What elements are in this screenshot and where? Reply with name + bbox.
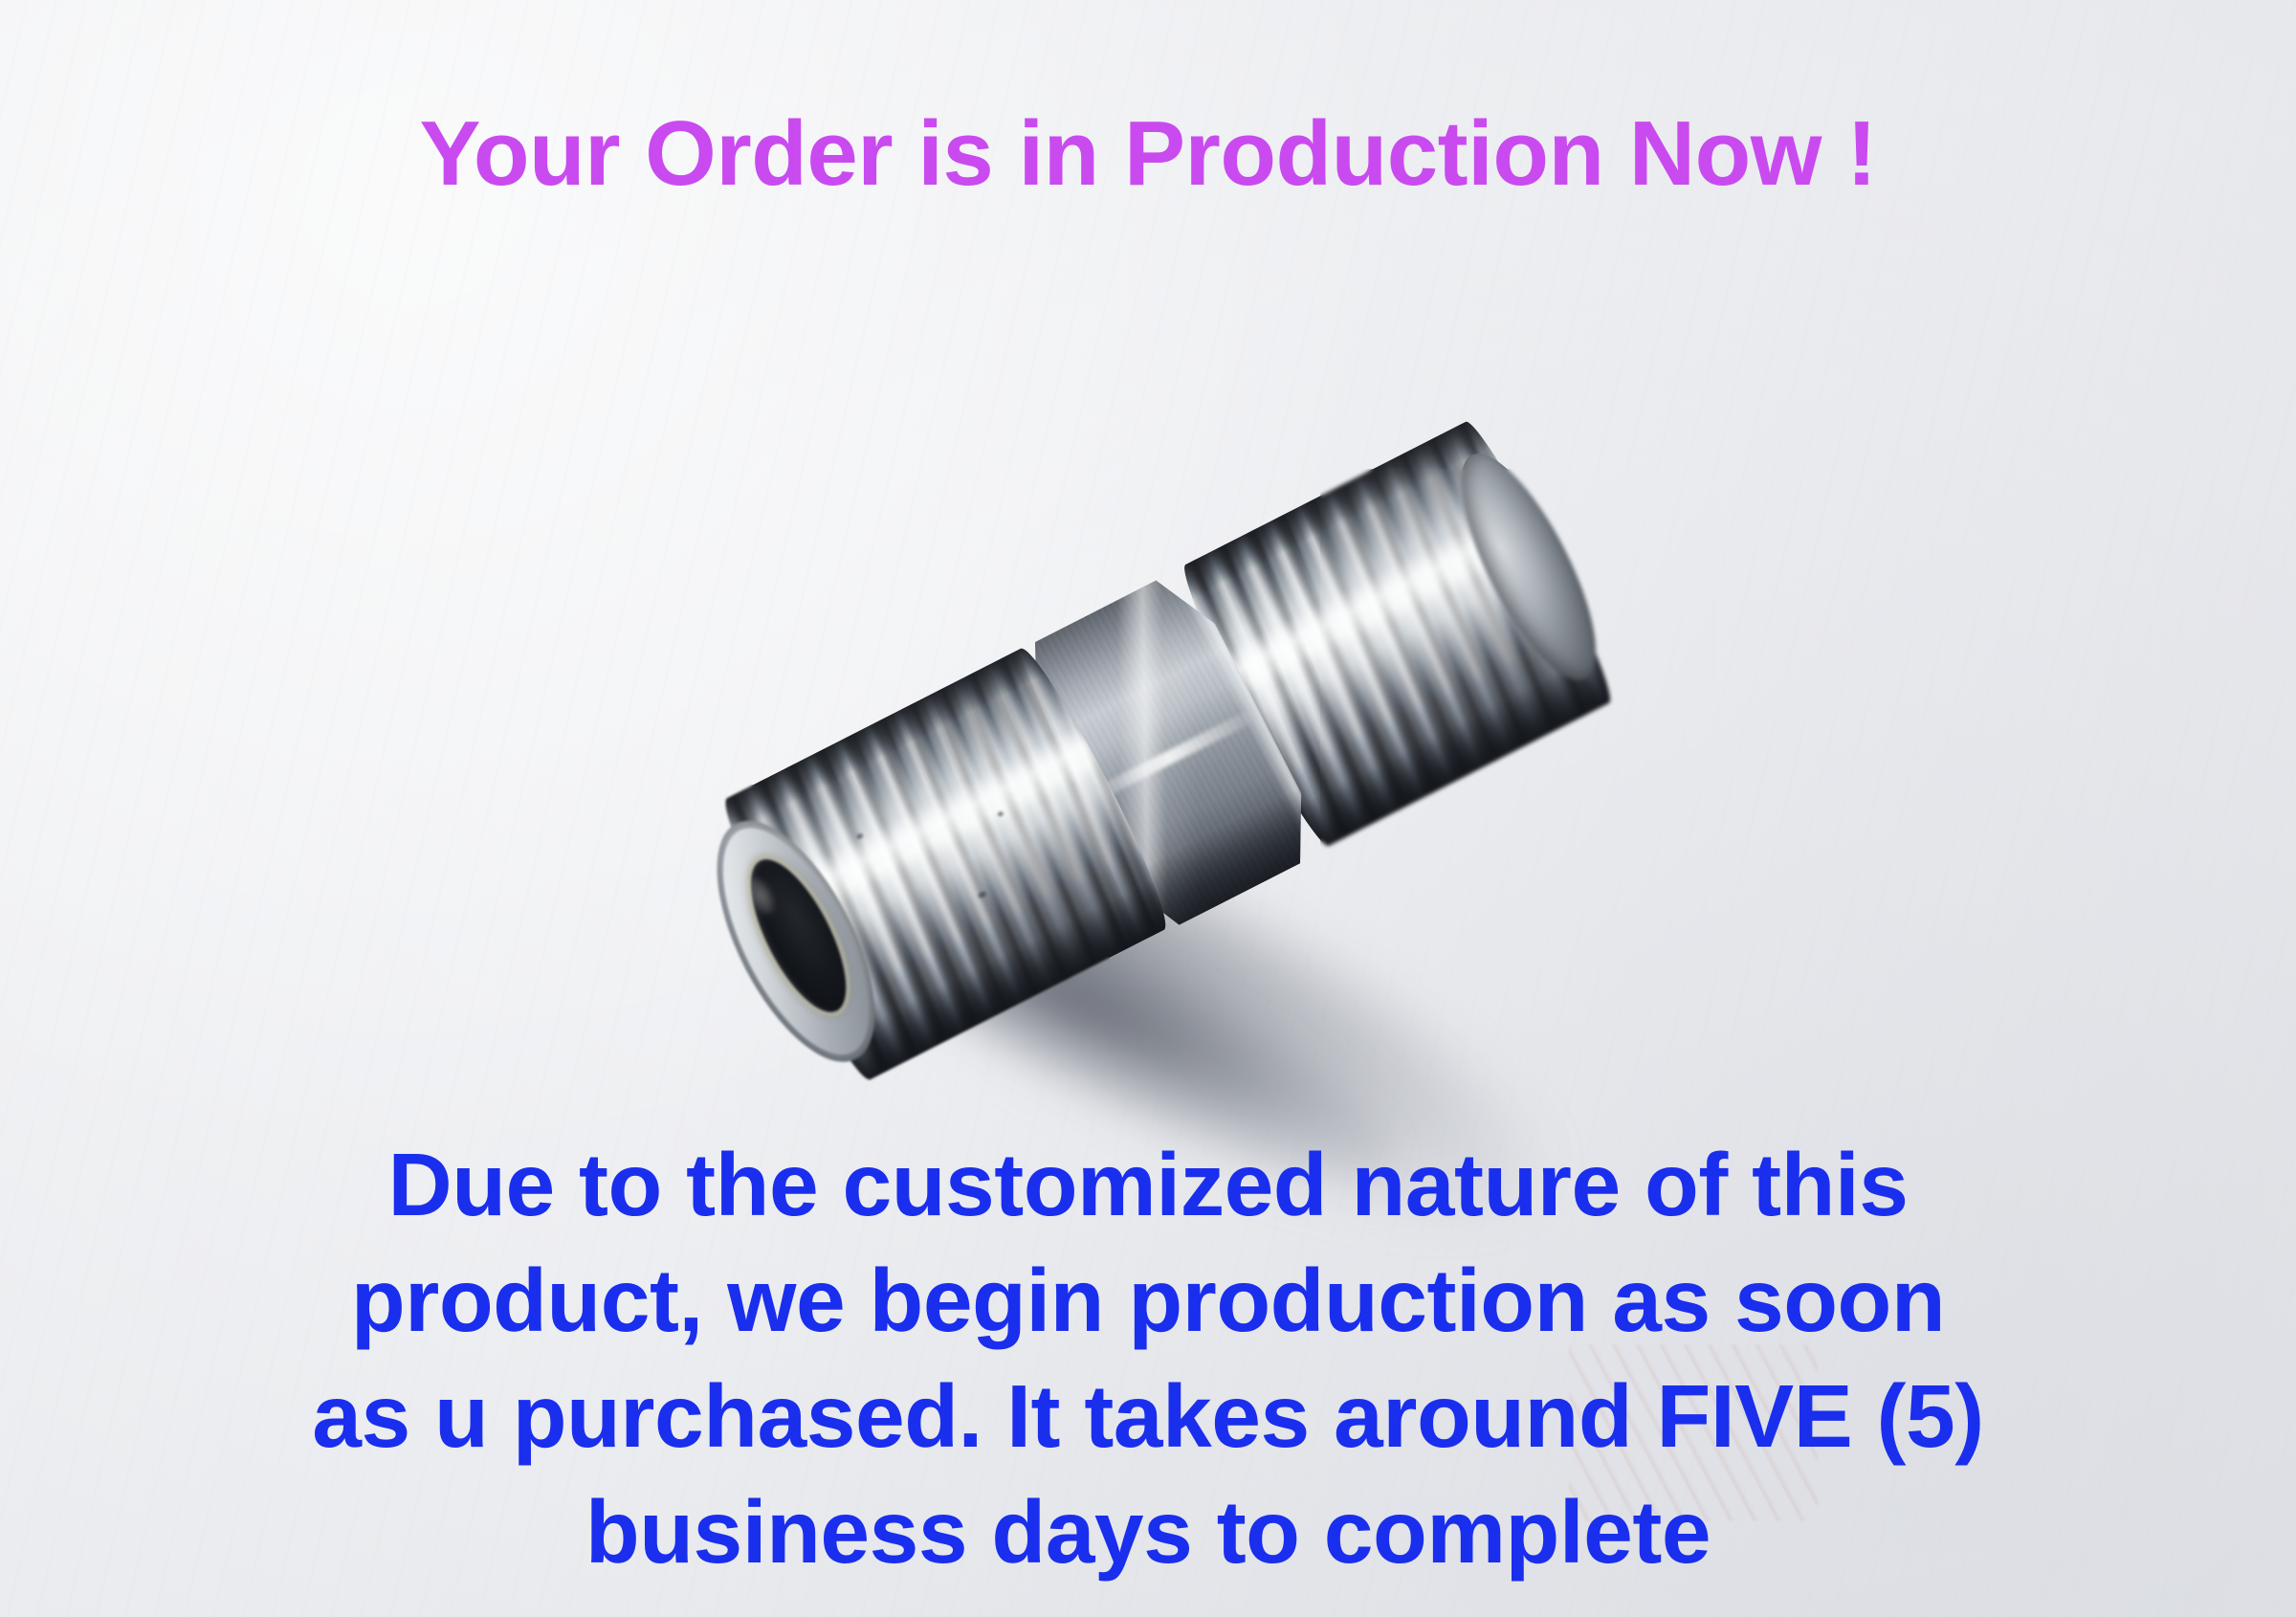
hex-pipe-nipple-icon [712,415,1623,1088]
page-title: Your Order is in Production Now ! [0,107,2296,201]
thread-ridges-far [1172,415,1623,853]
surface-speck [856,832,865,840]
surface-speck [977,890,987,898]
hex-nut-body [999,560,1331,944]
barrel-shading-near [712,641,1179,1088]
hex-edge-highlight [1084,711,1251,805]
hex-right-bevel [1172,571,1325,848]
notice-line-3: as u purchased. It takes around FIVE (5) [0,1359,2296,1474]
pipe-end-face-near [685,798,907,1085]
pipe-bore-highlight [742,874,780,919]
thread-ridges-near [712,641,1179,1088]
pipe-end-rim [694,807,898,1075]
barrel-shading-far [1172,415,1623,853]
surface-speck [997,810,1004,817]
depth-of-field-far-blur [1320,469,1722,966]
barrel-bottom-shadow-near [832,877,1180,1088]
pipe-end-face-far [1436,437,1622,698]
notice-line-1: Due to the customized nature of this [0,1127,2296,1243]
pipe-thread-barrel-far [1172,415,1623,853]
hex-surface-grain [999,560,1331,944]
thread-grooves-near [712,641,1179,1088]
hex-left-bevel [1005,658,1155,933]
notice-line-4: business days to complete [0,1474,2296,1590]
notice-image-canvas: Your Order is in Production Now ! [0,0,2296,1617]
notice-line-2: product, we begin production as soon [0,1243,2296,1359]
barrel-top-shadow-far [1172,415,1494,603]
pipe-thread-barrel-near [712,641,1179,1088]
depth-of-field-near-blur [708,785,1110,1100]
specular-highlight-near [755,725,1102,936]
hex-bottom-shadow [1115,787,1331,945]
barrel-bottom-shadow-far [1292,652,1623,853]
pipe-bore-opening [732,847,865,1026]
specular-highlight-far [1215,499,1545,700]
thread-grooves-far [1172,415,1623,853]
barrel-top-shadow-near [712,641,1051,837]
production-notice-text: Due to the customized nature of this pro… [0,1127,2296,1590]
hex-facet-highlight [999,560,1331,944]
